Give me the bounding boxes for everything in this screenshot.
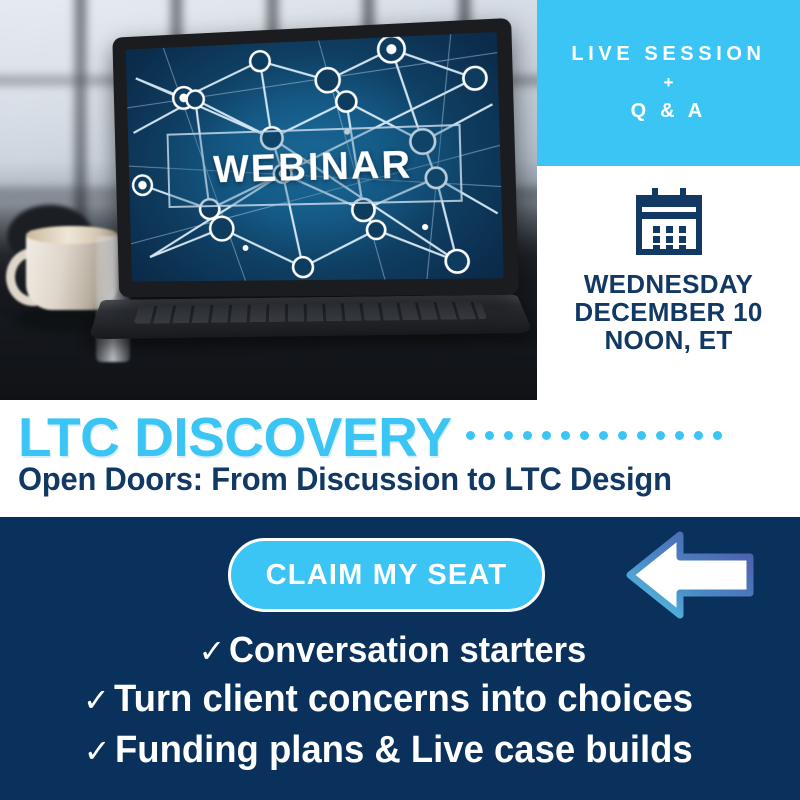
live-session-plus: +: [664, 78, 674, 88]
benefit-item: ✓Turn client concerns into choices: [83, 677, 717, 722]
date-date: DECEMBER 10: [574, 298, 762, 326]
rule-dot: [466, 431, 475, 440]
rule-dot: [561, 431, 570, 440]
rule-dot: [637, 431, 646, 440]
rule-dot: [694, 431, 703, 440]
date-block: WEDNESDAY DECEMBER 10 NOON, ET: [537, 166, 800, 400]
date-time: NOON, ET: [574, 326, 762, 354]
hero-photo: WEBINAR: [0, 0, 537, 400]
benefit-item: ✓Conversation starters: [199, 629, 602, 671]
laptop-screen: WEBINAR: [126, 32, 504, 282]
title-row: LTC DISCOVERY: [18, 406, 790, 468]
benefit-label: Turn client concerns into choices: [114, 677, 693, 722]
live-session-line1: LIVE SESSION: [571, 43, 765, 66]
benefit-label: Conversation starters: [229, 629, 586, 671]
rule-dot: [504, 431, 513, 440]
page-title: LTC DISCOVERY: [18, 410, 452, 465]
laptop: WEBINAR: [96, 28, 526, 358]
webinar-promo-poster: WEBINAR LIVE SESSION + Q & A WEDNESDAY: [0, 0, 800, 800]
title-band: LTC DISCOVERY Open Doors: From Discussio…: [0, 400, 800, 517]
dotted-rule: [466, 431, 722, 444]
webinar-label: WEBINAR: [213, 145, 413, 189]
webinar-label-box: WEBINAR: [167, 124, 463, 208]
benefits-list: ✓Conversation starters✓Turn client conce…: [0, 629, 800, 773]
check-icon: ✓: [84, 733, 111, 771]
claim-my-seat-label: CLAIM MY SEAT: [266, 559, 508, 592]
rule-dot: [656, 431, 665, 440]
calendar-icon: [633, 188, 705, 258]
page-subtitle: Open Doors: From Discussion to LTC Desig…: [18, 463, 672, 497]
rule-dot: [713, 431, 722, 440]
rule-dot: [618, 431, 627, 440]
cta-section: CLAIM MY SEAT ✓Conversation starters✓Tur…: [0, 517, 800, 800]
live-session-line2: Q & A: [631, 100, 707, 123]
benefit-item: ✓Funding plans & Live case builds: [84, 728, 717, 773]
date-text: WEDNESDAY DECEMBER 10 NOON, ET: [574, 270, 762, 354]
laptop-keyboard: [134, 302, 487, 324]
benefit-label: Funding plans & Live case builds: [115, 728, 693, 773]
check-icon: ✓: [83, 682, 110, 720]
claim-my-seat-button[interactable]: CLAIM MY SEAT: [228, 538, 545, 612]
check-icon: ✓: [199, 633, 226, 671]
live-session-block: LIVE SESSION + Q & A: [537, 0, 800, 166]
laptop-base: [88, 295, 534, 340]
rule-dot: [675, 431, 684, 440]
rule-dot: [542, 431, 551, 440]
rule-dot: [580, 431, 589, 440]
laptop-lid: WEBINAR: [112, 18, 519, 297]
date-day: WEDNESDAY: [574, 270, 762, 298]
rule-dot: [523, 431, 532, 440]
rule-dot: [485, 431, 494, 440]
rule-dot: [599, 431, 608, 440]
arrow-left-icon: [622, 527, 762, 623]
